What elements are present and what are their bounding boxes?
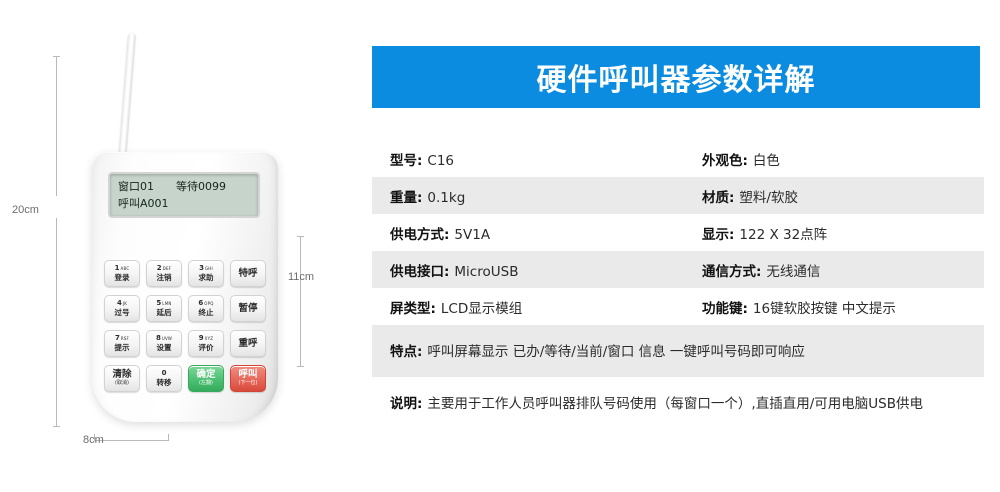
- key-label: 特呼: [238, 269, 257, 279]
- spec-value: 5V1A: [454, 227, 490, 243]
- key-top-row: 6OPQ: [198, 299, 213, 308]
- spec-cell-wide: 说明:主要用于工作人员呼叫器排队号码使用（每窗口一个）,直插直用/可用电脑USB…: [390, 392, 984, 414]
- key-label: 评价: [199, 343, 214, 353]
- key-label: 重呼: [238, 339, 257, 349]
- spec-cell-left: 供电方式:5V1A: [390, 223, 702, 243]
- key-top-row: 1ABC: [115, 264, 130, 273]
- spec-cell-left: 供电接口:MicroUSB: [390, 260, 702, 280]
- key-top-row: 9XYZ: [199, 334, 213, 343]
- spec-value: 0.1kg: [427, 190, 465, 206]
- key-digit: 4: [117, 299, 122, 308]
- key-alpha: XYZ: [205, 334, 214, 343]
- key-sublabel: (取消): [115, 380, 129, 387]
- key-alpha: LMN: [162, 299, 171, 308]
- dimension-cap-depth-top: [297, 236, 304, 237]
- key-digit: 5: [156, 299, 161, 308]
- spec-value: 16键软胶按键 中文提示: [753, 297, 896, 317]
- key-9-评价[interactable]: 9XYZ评价: [188, 330, 224, 357]
- key-label: 注销: [157, 273, 172, 283]
- key-label: 暂停: [238, 304, 257, 314]
- key-label: 提示: [115, 343, 130, 353]
- key-特呼[interactable]: 特呼: [230, 260, 266, 287]
- spec-key: 型号:: [390, 149, 422, 169]
- key-alpha: RSF: [121, 334, 129, 343]
- spec-key: 材质:: [702, 186, 734, 206]
- spec-cell-right: 材质:塑料/软胶: [702, 186, 984, 206]
- spec-sheet-panel: 硬件呼叫器参数详解 型号:C16外观色:白色重量:0.1kg材质:塑料/软胶供电…: [350, 0, 1000, 492]
- spec-row-wide: 说明:主要用于工作人员呼叫器排队号码使用（每窗口一个）,直插直用/可用电脑USB…: [372, 377, 984, 429]
- product-photo-panel: 20cm 11cm 8cm 窗口01 等待0099 呼叫A001 1ABC登录2…: [0, 0, 350, 492]
- spec-key: 供电方式:: [390, 223, 449, 243]
- key-digit: 1: [115, 264, 120, 273]
- key-label: 登录: [115, 273, 130, 283]
- dimension-label-depth: 11cm: [288, 271, 314, 283]
- spec-value: 呼叫屏幕显示 已办/等待/当前/窗口 信息 一键呼叫号码即可响应: [427, 344, 805, 360]
- spec-cell-left: 屏类型:LCD显示模组: [390, 297, 702, 317]
- dimension-cap-height-bottom: [53, 426, 60, 427]
- key-清除[interactable]: 清除(取消): [104, 365, 140, 392]
- spec-title-banner: 硬件呼叫器参数详解: [372, 46, 980, 108]
- key-label: 清除: [112, 370, 131, 380]
- lcd-waiting-count: 等待0099: [176, 178, 226, 195]
- key-top-row: 0: [162, 369, 167, 378]
- spec-key: 外观色:: [702, 149, 748, 169]
- spec-value: 主要用于工作人员呼叫器排队号码使用（每窗口一个）,直插直用/可用电脑USB供电: [427, 396, 923, 412]
- lcd-window-label: 窗口01: [118, 178, 154, 195]
- spec-key: 特点:: [390, 344, 422, 360]
- key-top-row: 5LMN: [156, 299, 171, 308]
- caller-device-body: 窗口01 等待0099 呼叫A001 1ABC登录2DEF注销3GHI求助特呼4…: [92, 152, 278, 422]
- dimension-cap-height-top: [53, 56, 60, 57]
- spec-value: 无线通信: [766, 260, 820, 280]
- key-1-登录[interactable]: 1ABC登录: [104, 260, 140, 287]
- lcd-screen: 窗口01 等待0099 呼叫A001: [108, 172, 260, 218]
- spec-cell-wide: 特点:呼叫屏幕显示 已办/等待/当前/窗口 信息 一键呼叫号码即可响应: [390, 340, 984, 362]
- key-alpha: UVW: [162, 334, 172, 343]
- antenna: [118, 33, 136, 161]
- spec-value: C16: [427, 153, 454, 169]
- spec-key: 重量:: [390, 186, 422, 206]
- key-重呼[interactable]: 重呼: [230, 330, 266, 357]
- page-title: 硬件呼叫器参数详解: [537, 55, 816, 99]
- key-alpha: JK: [123, 299, 127, 308]
- spec-row-wide: 特点:呼叫屏幕显示 已办/等待/当前/窗口 信息 一键呼叫号码即可响应: [372, 325, 984, 377]
- key-label: 确定: [196, 370, 215, 380]
- key-2-注销[interactable]: 2DEF注销: [146, 260, 182, 287]
- dimension-cap-width-right: [168, 434, 169, 441]
- spec-cell-right: 显示:122 X 32点阵: [702, 223, 984, 243]
- key-label: 呼叫: [238, 370, 257, 380]
- key-top-row: 2DEF: [157, 264, 171, 273]
- key-digit: 8: [156, 334, 161, 343]
- key-7-提示[interactable]: 7RSF提示: [104, 330, 140, 357]
- spec-key: 功能键:: [702, 297, 748, 317]
- spec-cell-left: 型号:C16: [390, 149, 702, 169]
- dimension-label-height-mask: [56, 196, 84, 218]
- key-label: 设置: [157, 343, 172, 353]
- key-top-row: 3GHI: [199, 264, 213, 273]
- key-8-设置[interactable]: 8UVW设置: [146, 330, 182, 357]
- spec-value: 白色: [753, 149, 780, 169]
- key-5-延后[interactable]: 5LMN延后: [146, 295, 182, 322]
- key-label: 终止: [199, 308, 214, 318]
- spec-value: 122 X 32点阵: [739, 223, 827, 243]
- key-label: 转移: [157, 378, 172, 388]
- spec-row: 屏类型:LCD显示模组功能键:16键软胶按键 中文提示: [372, 288, 984, 325]
- spec-value: 塑料/软胶: [739, 186, 798, 206]
- dimension-cap-depth-bottom: [297, 366, 304, 367]
- key-0-转移[interactable]: 0转移: [146, 365, 182, 392]
- key-3-求助[interactable]: 3GHI求助: [188, 260, 224, 287]
- key-label: 求助: [199, 273, 214, 283]
- spec-key: 供电接口:: [390, 260, 449, 280]
- spec-key: 显示:: [702, 223, 734, 243]
- key-digit: 9: [199, 334, 204, 343]
- dimension-label-width: 8cm: [83, 434, 104, 446]
- lcd-line-2: 呼叫A001: [118, 195, 252, 212]
- key-top-row: 8UVW: [156, 334, 172, 343]
- spec-cell-right: 外观色:白色: [702, 149, 984, 169]
- spec-key: 屏类型:: [390, 297, 436, 317]
- keypad[interactable]: 1ABC登录2DEF注销3GHI求助特呼4JK过号5LMN延后6OPQ终止暂停7…: [104, 260, 266, 392]
- spec-row: 供电方式:5V1A显示:122 X 32点阵: [372, 214, 984, 251]
- dimension-line-height: [56, 56, 57, 426]
- key-alpha: DEF: [163, 264, 172, 273]
- spec-cell-right: 通信方式:无线通信: [702, 260, 984, 280]
- key-digit: 7: [115, 334, 120, 343]
- spec-key: 说明:: [390, 396, 422, 412]
- key-4-过号[interactable]: 4JK过号: [104, 295, 140, 322]
- key-top-row: 7RSF: [115, 334, 129, 343]
- key-digit: 6: [198, 299, 203, 308]
- key-alpha: OPQ: [204, 299, 213, 308]
- spec-table: 型号:C16外观色:白色重量:0.1kg材质:塑料/软胶供电方式:5V1A显示:…: [372, 140, 984, 429]
- lcd-calling-number: 呼叫A001: [118, 195, 169, 212]
- key-alpha: ABC: [121, 264, 130, 273]
- spec-cell-left: 重量:0.1kg: [390, 186, 702, 206]
- key-呼叫[interactable]: 呼叫(下一位): [230, 365, 266, 392]
- key-sublabel: (左翻): [199, 380, 213, 387]
- key-确定[interactable]: 确定(左翻): [188, 365, 224, 392]
- key-top-row: 4JK: [117, 299, 127, 308]
- lcd-line-1: 窗口01 等待0099: [118, 178, 252, 195]
- spec-row: 重量:0.1kg材质:塑料/软胶: [372, 177, 984, 214]
- spec-value: LCD显示模组: [441, 297, 522, 317]
- key-sublabel: (下一位): [239, 380, 258, 387]
- spec-key: 通信方式:: [702, 260, 761, 280]
- spec-value: MicroUSB: [454, 264, 518, 280]
- key-label: 延后: [157, 308, 172, 318]
- key-digit: 0: [162, 369, 167, 378]
- spec-row: 供电接口:MicroUSB通信方式:无线通信: [372, 251, 984, 288]
- key-6-终止[interactable]: 6OPQ终止: [188, 295, 224, 322]
- key-暂停[interactable]: 暂停: [230, 295, 266, 322]
- key-label: 过号: [115, 308, 130, 318]
- dimension-line-width: [94, 440, 168, 441]
- key-digit: 2: [157, 264, 162, 273]
- key-digit: 3: [199, 264, 204, 273]
- spec-cell-right: 功能键:16键软胶按键 中文提示: [702, 297, 984, 317]
- spec-row: 型号:C16外观色:白色: [372, 140, 984, 177]
- dimension-label-height: 20cm: [12, 204, 39, 216]
- lcd-spacer: [154, 178, 176, 195]
- dimension-line-depth: [300, 236, 301, 366]
- key-alpha: GHI: [205, 264, 213, 273]
